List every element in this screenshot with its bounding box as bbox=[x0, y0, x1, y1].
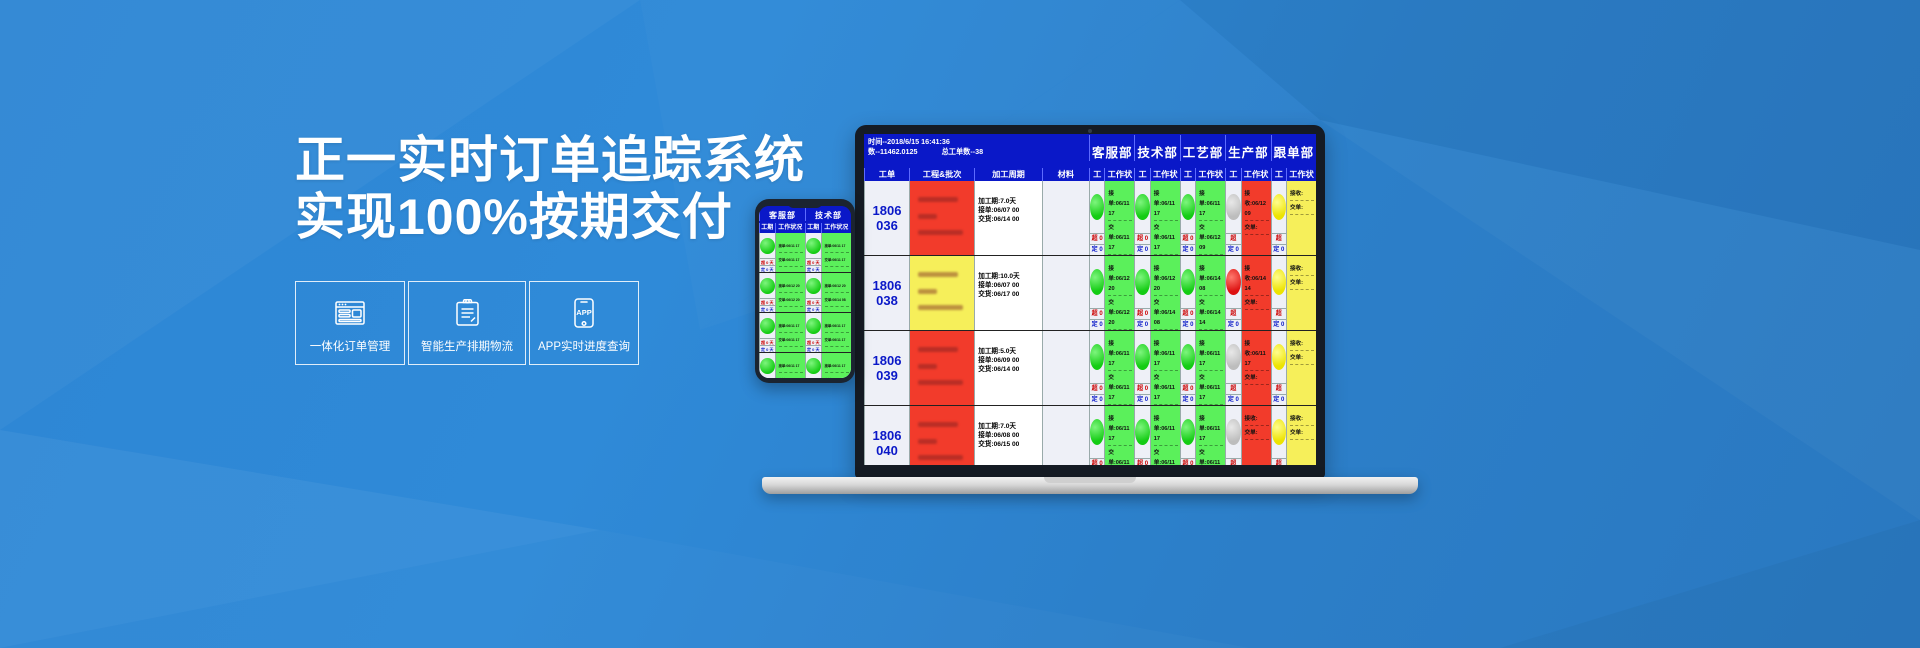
badge-overdue: 超 0 天 bbox=[1181, 458, 1195, 465]
status-line-1: 交单:06/11 17 bbox=[825, 375, 849, 378]
badge-overdue: 超 0 天 bbox=[1090, 308, 1104, 319]
col-header-3: 材料 bbox=[1042, 168, 1089, 181]
cell-dept-status-1: 接单:06/11 17交单:06/11 17确认:06/11 17 bbox=[1150, 406, 1180, 465]
status-line-1: 交单:06/12 09 bbox=[1199, 223, 1223, 255]
cell-material bbox=[1042, 331, 1089, 405]
status-line-1: 交单:06/12 20 bbox=[1108, 298, 1132, 330]
status-line-1: 交单:06/11 17 bbox=[1154, 448, 1178, 465]
status-indicator bbox=[1090, 331, 1104, 383]
col-header-status-0: 工作状况 bbox=[1104, 168, 1134, 181]
cell-dept-status-1: 接单:06/11 17交单:06/11 17确认:06/11 17 bbox=[1150, 331, 1180, 405]
cell-dept-status-0: 接单:06/12 20交单:06/12 20 bbox=[775, 273, 805, 312]
badge-overdue: 超 3.1 天 bbox=[1272, 383, 1286, 394]
col-header-status-1: 工作状况 bbox=[821, 223, 851, 233]
badge-overdue: 超 0 天 bbox=[806, 338, 821, 345]
badge-remaining: 定 0 天 bbox=[1226, 244, 1240, 255]
cell-dept-status-2: 接单:06/11 17交单:06/11 17 bbox=[1195, 406, 1225, 465]
dept-title-3: 生产部 bbox=[1225, 135, 1270, 161]
cell-dept-status-0: 接单:06/11 17交单:06/11 17 bbox=[1104, 406, 1134, 465]
status-line-1: 交单: bbox=[1245, 223, 1269, 235]
status-line-1: 交单:06/11 17 bbox=[825, 255, 849, 267]
cell-dept-status-3: 接收:交单: bbox=[1241, 406, 1271, 465]
status-line-0: 接收:06/14 14 bbox=[1245, 264, 1269, 296]
status-line-0: 接单:06/11 17 bbox=[1199, 339, 1223, 371]
badge-overdue: 超 0 天 bbox=[1181, 308, 1195, 319]
badge-remaining: 定 0 天 bbox=[1090, 394, 1104, 405]
status-line-0: 接收: bbox=[1290, 189, 1314, 201]
col-header-status-3: 工作状况 bbox=[1241, 168, 1271, 181]
status-line-0: 接收: bbox=[1290, 414, 1314, 426]
status-dot-green bbox=[760, 358, 775, 374]
status-dot-green bbox=[806, 358, 821, 374]
cell-dept-status-1: 接单:06/11 17交单:06/11 17确认:06/11 17 bbox=[821, 313, 851, 352]
status-indicator bbox=[1272, 406, 1286, 458]
cell-dept-duration-1: 超 0 天定 0 天 bbox=[805, 233, 821, 272]
cycle-line-2: 交货:06/14 00 bbox=[978, 365, 1040, 374]
badge-overdue: 超 0 天 bbox=[1181, 383, 1195, 394]
badge-overdue: 超 0 天 bbox=[1135, 383, 1149, 394]
status-indicator bbox=[1226, 256, 1240, 308]
status-line-1: 交单: bbox=[1290, 278, 1314, 290]
status-line-1: 交单: bbox=[1245, 373, 1269, 385]
cell-dept-duration-0: 超 0 天定 1 天 bbox=[759, 353, 775, 378]
status-indicator bbox=[1135, 256, 1149, 308]
table-row[interactable]: 超 0 天定 0 天接单:06/11 17交单:06/11 17超 0 天定 0… bbox=[759, 233, 851, 273]
badge-overdue: 超 0 天 bbox=[760, 258, 775, 265]
badge-overdue: 超 3.1 天 bbox=[1272, 308, 1286, 319]
cell-dept-duration-1: 超 0 天定 0 天 bbox=[1134, 181, 1149, 255]
smartphone-mockup: 客服部技术部工期工作状况工期工作状况超 0 天定 0 天接单:06/11 17交… bbox=[755, 199, 855, 383]
status-line-0: 接收:06/12 09 bbox=[1245, 189, 1269, 221]
cell-material bbox=[1042, 181, 1089, 255]
cell-dept-status-2: 接单:06/11 17交单:06/12 09 bbox=[1195, 181, 1225, 255]
cell-dept-status-0: 接单:06/11 17交单:06/11 17 bbox=[775, 233, 805, 272]
feature-app-progress-query[interactable]: APP APP实时进度查询 bbox=[529, 281, 639, 365]
cell-dept-status-1: 接单:06/12 20交单:06/14 08确认:06/14 08 bbox=[821, 273, 851, 312]
status-indicator bbox=[760, 313, 775, 338]
status-line-1: 交单:06/11 17 bbox=[1154, 373, 1178, 405]
cell-dept-duration-1: 超 0 天定 0 天 bbox=[1134, 331, 1149, 405]
badge-overdue: 超 2.1 天 bbox=[1226, 383, 1240, 394]
cell-dept-duration-0: 超 0 天定 0 天 bbox=[759, 273, 775, 312]
board-column-headers: 工期工作状况工期工作状况 bbox=[759, 223, 851, 233]
status-line-0: 接单:06/11 17 bbox=[779, 361, 803, 373]
status-indicator bbox=[1272, 181, 1286, 233]
status-line-1: 交单: bbox=[1245, 298, 1269, 310]
cell-dept-duration-4: 超 3.1 天定 3 天 bbox=[1271, 406, 1286, 465]
phone-screen[interactable]: 客服部技术部工期工作状况工期工作状况超 0 天定 0 天接单:06/11 17交… bbox=[759, 206, 851, 378]
cell-dept-status-0: 接单:06/11 17交单:06/11 17 bbox=[775, 313, 805, 352]
status-line-1: 交单:06/11 17 bbox=[1199, 373, 1223, 405]
badge-overdue: 超 0 天 bbox=[1181, 233, 1195, 244]
cell-dept-status-0: 接单:06/11 17交单:06/11 17 bbox=[775, 353, 805, 378]
status-dot-green bbox=[1181, 194, 1195, 220]
badge-overdue: 超 2.7 天 bbox=[1226, 233, 1240, 244]
badge-overdue: 超 0 天 bbox=[1135, 308, 1149, 319]
status-line-1: 交单:06/11 17 bbox=[779, 375, 803, 378]
cell-material bbox=[1042, 406, 1089, 465]
status-indicator bbox=[760, 233, 775, 258]
cell-dept-duration-3: 超 2.7 天定 0 天 bbox=[1225, 181, 1240, 255]
status-dot-green bbox=[1135, 344, 1149, 370]
status-indicator bbox=[1226, 331, 1240, 383]
badge-remaining: 定 0 天 bbox=[1135, 394, 1149, 405]
status-line-0: 接单:06/11 17 bbox=[825, 241, 849, 253]
status-line-0: 接单:06/12 20 bbox=[1154, 264, 1178, 296]
cell-dept-duration-0: 超 0 天定 0 天 bbox=[759, 233, 775, 272]
cell-processing-cycle: 加工期:7.0天接单:06/08 00交货:06/15 00 bbox=[974, 406, 1042, 465]
badge-remaining: 定 0 天 bbox=[1135, 319, 1149, 330]
badge-remaining: 定 0 天 bbox=[1090, 244, 1104, 255]
dept-title-1: 技术部 bbox=[805, 207, 851, 221]
col-header-status-1: 工作状况 bbox=[1150, 168, 1180, 181]
badge-remaining: 定 0 天 bbox=[1272, 244, 1286, 255]
status-line-1: 交单:06/11 17 bbox=[779, 335, 803, 347]
status-line-1: 交单:06/11 17 bbox=[1108, 223, 1132, 255]
cell-dept-duration-4: 超 3.1 天定 0 天 bbox=[1271, 331, 1286, 405]
status-indicator bbox=[1090, 406, 1104, 458]
table-row[interactable]: 超 0 天定 0 天接单:06/12 20交单:06/12 20超 0 天定 0… bbox=[759, 273, 851, 313]
status-dot-green bbox=[806, 278, 821, 294]
col-header-duration-2: 工期 bbox=[1180, 168, 1195, 181]
cell-dept-status-2: 接单:06/14 08交单:06/14 14 bbox=[1195, 256, 1225, 330]
status-line-1: 交单: bbox=[1290, 353, 1314, 365]
status-dot-green bbox=[1135, 269, 1149, 295]
status-dot-green bbox=[1090, 344, 1104, 370]
headline-line-2: 实现100%按期交付 bbox=[295, 189, 1015, 246]
cell-dept-status-1: 接单:06/11 17交单:06/11 17确认:06/11 17 bbox=[821, 353, 851, 378]
feature-production-scheduling[interactable]: 智能生产排期物流 bbox=[408, 281, 526, 365]
col-header-status-2: 工作状况 bbox=[1195, 168, 1225, 181]
status-line-0: 接单:06/11 17 bbox=[1154, 414, 1178, 446]
status-indicator bbox=[1181, 181, 1195, 233]
status-line-0: 接单:06/12 20 bbox=[825, 281, 849, 293]
status-dot-gray bbox=[1226, 194, 1240, 220]
cell-dept-duration-1: 超 0 天定 0 天 bbox=[1134, 256, 1149, 330]
status-indicator bbox=[1272, 331, 1286, 383]
badge-remaining: 定 0 天 bbox=[760, 305, 775, 312]
hero-copy: 正一实时订单追踪系统 实现100%按期交付 一体化订单管理 bbox=[295, 132, 1015, 365]
status-indicator bbox=[1181, 406, 1195, 458]
status-dot-green bbox=[806, 318, 821, 334]
feature-label: 一体化订单管理 bbox=[310, 338, 391, 354]
status-dot-green bbox=[1181, 269, 1195, 295]
status-dot-green bbox=[760, 318, 775, 334]
status-dot-green bbox=[1181, 419, 1195, 445]
table-row[interactable]: 超 0 天定 1 天接单:06/11 17交单:06/11 17超 0 天定 4… bbox=[759, 353, 851, 378]
status-dot-green bbox=[1090, 269, 1104, 295]
badge-overdue: 超 0 天 bbox=[760, 338, 775, 345]
col-header-status-4: 工作状况 bbox=[1286, 168, 1316, 181]
board-rows: 超 0 天定 0 天接单:06/11 17交单:06/11 17超 0 天定 0… bbox=[759, 233, 851, 378]
cell-dept-duration-1: 超 0 天定 4 天 bbox=[1134, 406, 1149, 465]
cell-dept-status-3: 接收:06/12 09交单: bbox=[1241, 181, 1271, 255]
dept-title-2: 工艺部 bbox=[1180, 135, 1225, 161]
cell-dept-status-4: 接收:交单: bbox=[1286, 256, 1316, 330]
badge-remaining: 定 0 天 bbox=[1181, 394, 1195, 405]
status-dot-green bbox=[1181, 344, 1195, 370]
cell-dept-status-4: 接收:交单: bbox=[1286, 331, 1316, 405]
status-line-2: 确认:06/14 08 bbox=[825, 309, 849, 312]
feature-label: 智能生产排期物流 bbox=[421, 338, 513, 354]
phone-body: 客服部技术部工期工作状况工期工作状况超 0 天定 0 天接单:06/11 17交… bbox=[755, 199, 855, 383]
badge-overdue: 超 3.1 天 bbox=[1226, 458, 1240, 465]
cell-dept-status-1: 接单:06/11 17交单:06/11 17确认:06/11 17 bbox=[821, 233, 851, 272]
status-line-0: 接收:06/11 17 bbox=[1245, 339, 1269, 371]
badge-overdue: 超 0 天 bbox=[806, 258, 821, 265]
status-dot-green bbox=[806, 238, 821, 254]
status-dot-green bbox=[1090, 194, 1104, 220]
svg-text:APP: APP bbox=[576, 308, 591, 317]
col-header-status-0: 工作状况 bbox=[775, 223, 805, 233]
cell-dept-duration-2: 超 0 天定 0 天 bbox=[1180, 331, 1195, 405]
status-line-2: 确认:06/11 17 bbox=[825, 349, 849, 352]
status-line-1: 交单: bbox=[1290, 203, 1314, 215]
status-line-0: 接单:06/12 20 bbox=[1108, 264, 1132, 296]
status-line-0: 接单:06/11 17 bbox=[1108, 339, 1132, 371]
col-header-duration-1: 工期 bbox=[805, 223, 821, 233]
page-title: 正一实时订单追踪系统 实现100%按期交付 bbox=[295, 132, 1015, 246]
dept-title-0: 客服部 bbox=[759, 207, 805, 221]
badge-remaining: 定 0 天 bbox=[806, 265, 821, 272]
badge-overdue: 超 0 天 bbox=[1090, 458, 1104, 465]
laptop-base bbox=[762, 477, 1418, 494]
cell-dept-duration-1: 超 0 天定 4 天 bbox=[805, 353, 821, 378]
status-line-0: 接单:06/11 17 bbox=[825, 361, 849, 373]
cell-dept-duration-3: 超 3.1 天定 3 天 bbox=[1225, 406, 1240, 465]
badge-remaining: 定 0 天 bbox=[1272, 394, 1286, 405]
dept-title-1: 技术部 bbox=[1134, 135, 1179, 161]
cell-material bbox=[1042, 256, 1089, 330]
status-dot-yellow bbox=[1272, 269, 1286, 295]
badge-overdue: 超 0 天 bbox=[806, 298, 821, 305]
col-header-duration-4: 工期 bbox=[1271, 168, 1286, 181]
board-top-band: 客服部技术部 bbox=[759, 206, 851, 223]
status-indicator bbox=[760, 273, 775, 298]
webcam-icon bbox=[1088, 129, 1092, 133]
status-dot-gray bbox=[1226, 344, 1240, 370]
cell-dept-duration-0: 超 0 天定 0 天 bbox=[759, 313, 775, 352]
cell-dept-duration-3: 超 2.1 天定 0 天 bbox=[1225, 331, 1240, 405]
cell-dept-status-3: 接收:06/14 14交单: bbox=[1241, 256, 1271, 330]
status-line-2: 确认:06/11 17 bbox=[825, 269, 849, 272]
badge-remaining: 定 0 天 bbox=[1226, 319, 1240, 330]
status-dot-yellow bbox=[1272, 344, 1286, 370]
status-line-0: 接收: bbox=[1245, 414, 1269, 426]
status-indicator bbox=[806, 233, 821, 258]
col-header-duration-0: 工期 bbox=[759, 223, 775, 233]
cell-dept-duration-4: 超 3.7 天定 0 天 bbox=[1271, 181, 1286, 255]
feature-order-management[interactable]: 一体化订单管理 bbox=[295, 281, 405, 365]
cell-dept-duration-2: 超 0 天定 3 天 bbox=[1180, 406, 1195, 465]
cell-dept-duration-0: 超 0 天定 0 天 bbox=[1089, 331, 1104, 405]
cell-dept-status-4: 接收:交单: bbox=[1286, 181, 1316, 255]
mobile-app-icon: APP bbox=[573, 293, 595, 333]
status-line-1: 交单:06/14 08 bbox=[1154, 298, 1178, 330]
status-line-1: 交单:06/12 20 bbox=[779, 295, 803, 307]
cell-dept-duration-1: 超 0 天定 0 天 bbox=[805, 313, 821, 352]
badge-remaining: 定 0 天 bbox=[806, 345, 821, 352]
cell-dept-status-4: 接收:交单: bbox=[1286, 406, 1316, 465]
status-indicator bbox=[1135, 331, 1149, 383]
status-indicator bbox=[1135, 181, 1149, 233]
cell-dept-status-1: 接单:06/12 20交单:06/14 08确认:06/14 08 bbox=[1150, 256, 1180, 330]
status-line-1: 交单: bbox=[1245, 428, 1269, 440]
cell-dept-duration-4: 超 3.1 天定 0 天 bbox=[1271, 256, 1286, 330]
status-line-0: 接单:06/11 17 bbox=[1199, 414, 1223, 446]
status-line-1: 交单:06/11 17 bbox=[1199, 448, 1223, 465]
status-line-0: 接单:06/11 17 bbox=[1108, 189, 1132, 221]
badge-remaining: 定 0 天 bbox=[1181, 319, 1195, 330]
cell-dept-status-0: 接单:06/11 17交单:06/11 17 bbox=[1104, 331, 1134, 405]
status-indicator bbox=[1135, 406, 1149, 458]
badge-remaining: 定 0 天 bbox=[760, 265, 775, 272]
cycle-line-1: 接单:06/08 00 bbox=[978, 431, 1040, 440]
cell-work-order: 1806040 bbox=[864, 406, 909, 465]
cell-dept-duration-3: 超 2.1 天定 0 天 bbox=[1225, 256, 1240, 330]
badge-overdue: 超 0 天 bbox=[760, 298, 775, 305]
status-line-1: 交单:06/11 17 bbox=[1108, 373, 1132, 405]
col-header-duration-1: 工期 bbox=[1134, 168, 1149, 181]
status-dot-green bbox=[1135, 419, 1149, 445]
cell-dept-duration-2: 超 0 天定 0 天 bbox=[1180, 181, 1195, 255]
status-dot-green bbox=[1090, 419, 1104, 445]
status-line-1: 交单:06/11 17 bbox=[1154, 223, 1178, 255]
status-line-0: 接单:06/11 17 bbox=[1154, 189, 1178, 221]
status-line-1: 交单:06/11 17 bbox=[779, 255, 803, 267]
status-dot-green bbox=[1135, 194, 1149, 220]
badge-overdue: 超 3.7 天 bbox=[1272, 233, 1286, 244]
badge-remaining: 定 0 天 bbox=[806, 305, 821, 312]
phone-erp-board[interactable]: 客服部技术部工期工作状况工期工作状况超 0 天定 0 天接单:06/11 17交… bbox=[759, 206, 851, 378]
badge-remaining: 定 0 天 bbox=[760, 345, 775, 352]
status-line-0: 接收: bbox=[1290, 264, 1314, 276]
dept-title-0: 客服部 bbox=[1089, 135, 1134, 161]
cell-dept-duration-2: 超 0 天定 0 天 bbox=[1180, 256, 1195, 330]
cell-dept-status-0: 接单:06/12 20交单:06/12 20 bbox=[1104, 256, 1134, 330]
badge-overdue: 超 2.1 天 bbox=[1226, 308, 1240, 319]
cell-dept-duration-0: 超 0 天定 1 天 bbox=[1089, 406, 1104, 465]
status-line-1: 交单:06/11 17 bbox=[1108, 448, 1132, 465]
status-dot-red bbox=[1226, 269, 1240, 295]
table-row[interactable]: 超 0 天定 0 天接单:06/11 17交单:06/11 17超 0 天定 0… bbox=[759, 313, 851, 353]
cell-dept-duration-0: 超 0 天定 0 天 bbox=[1089, 181, 1104, 255]
status-line-0: 接单:06/11 17 bbox=[779, 241, 803, 253]
table-row[interactable]: 1806040加工期:7.0天接单:06/08 00交货:06/15 00超 0… bbox=[864, 406, 1316, 465]
badge-remaining: 定 0 天 bbox=[1090, 319, 1104, 330]
cell-dept-duration-1: 超 0 天定 0 天 bbox=[805, 273, 821, 312]
status-line-0: 接收: bbox=[1290, 339, 1314, 351]
status-indicator bbox=[806, 313, 821, 338]
status-line-1: 交单:06/14 14 bbox=[1199, 298, 1223, 330]
col-header-duration-3: 工期 bbox=[1225, 168, 1240, 181]
dashboard-icon bbox=[335, 293, 365, 333]
cell-project-batch bbox=[909, 406, 974, 465]
headline-line-1: 正一实时订单追踪系统 bbox=[295, 132, 805, 188]
status-dot-gray bbox=[1226, 419, 1240, 445]
status-line-1: 交单: bbox=[1290, 428, 1314, 440]
cell-dept-status-3: 接收:06/11 17交单: bbox=[1241, 331, 1271, 405]
cell-dept-duration-0: 超 0 天定 0 天 bbox=[1089, 256, 1104, 330]
badge-overdue: 超 0 天 bbox=[1090, 233, 1104, 244]
status-line-0: 接单:06/14 08 bbox=[1199, 264, 1223, 296]
status-indicator bbox=[1090, 256, 1104, 308]
status-indicator bbox=[806, 273, 821, 298]
status-line-0: 接单:06/11 17 bbox=[1154, 339, 1178, 371]
dept-title-4: 跟单部 bbox=[1271, 135, 1316, 161]
feature-label: APP实时进度查询 bbox=[538, 338, 630, 354]
cycle-line-2: 交货:06/15 00 bbox=[978, 440, 1040, 449]
status-line-0: 接单:06/11 17 bbox=[825, 321, 849, 333]
status-line-1: 交单:06/11 17 bbox=[825, 335, 849, 347]
feature-list: 一体化订单管理 智能生产排期物流 bbox=[295, 281, 1015, 365]
status-dot-yellow bbox=[1272, 194, 1286, 220]
status-dot-yellow bbox=[1272, 419, 1286, 445]
badge-overdue: 超 0 天 bbox=[1135, 458, 1149, 465]
status-indicator bbox=[1181, 331, 1195, 383]
badge-overdue: 超 0 天 bbox=[1090, 383, 1104, 394]
status-line-0: 接单:06/11 17 bbox=[1199, 189, 1223, 221]
badge-remaining: 定 0 天 bbox=[1135, 244, 1149, 255]
cell-dept-status-2: 接单:06/11 17交单:06/11 17 bbox=[1195, 331, 1225, 405]
col-header-duration-0: 工期 bbox=[1089, 168, 1104, 181]
clipboard-icon bbox=[455, 293, 480, 333]
status-line-0: 接单:06/11 17 bbox=[779, 321, 803, 333]
status-indicator bbox=[1226, 181, 1240, 233]
badge-remaining: 定 0 天 bbox=[1272, 319, 1286, 330]
cell-dept-status-0: 接单:06/11 17交单:06/11 17 bbox=[1104, 181, 1134, 255]
status-indicator bbox=[1272, 256, 1286, 308]
status-line-1: 交单:06/14 08 bbox=[825, 295, 849, 307]
status-indicator bbox=[1090, 181, 1104, 233]
badge-overdue: 超 0 天 bbox=[1135, 233, 1149, 244]
phone-notch bbox=[788, 203, 822, 208]
badge-overdue: 超 3.1 天 bbox=[1272, 458, 1286, 465]
status-indicator bbox=[806, 353, 821, 378]
cell-dept-status-1: 接单:06/11 17交单:06/11 17确认:06/11 17 bbox=[1150, 181, 1180, 255]
cycle-line-0: 加工期:7.0天 bbox=[978, 422, 1040, 431]
badge-remaining: 定 0 天 bbox=[1226, 394, 1240, 405]
status-line-0: 接单:06/11 17 bbox=[1108, 414, 1132, 446]
status-dot-green bbox=[760, 278, 775, 294]
status-line-0: 接单:06/12 20 bbox=[779, 281, 803, 293]
badge-remaining: 定 0 天 bbox=[1181, 244, 1195, 255]
status-indicator bbox=[760, 353, 775, 378]
status-indicator bbox=[1226, 406, 1240, 458]
status-dot-green bbox=[760, 238, 775, 254]
status-indicator bbox=[1181, 256, 1195, 308]
